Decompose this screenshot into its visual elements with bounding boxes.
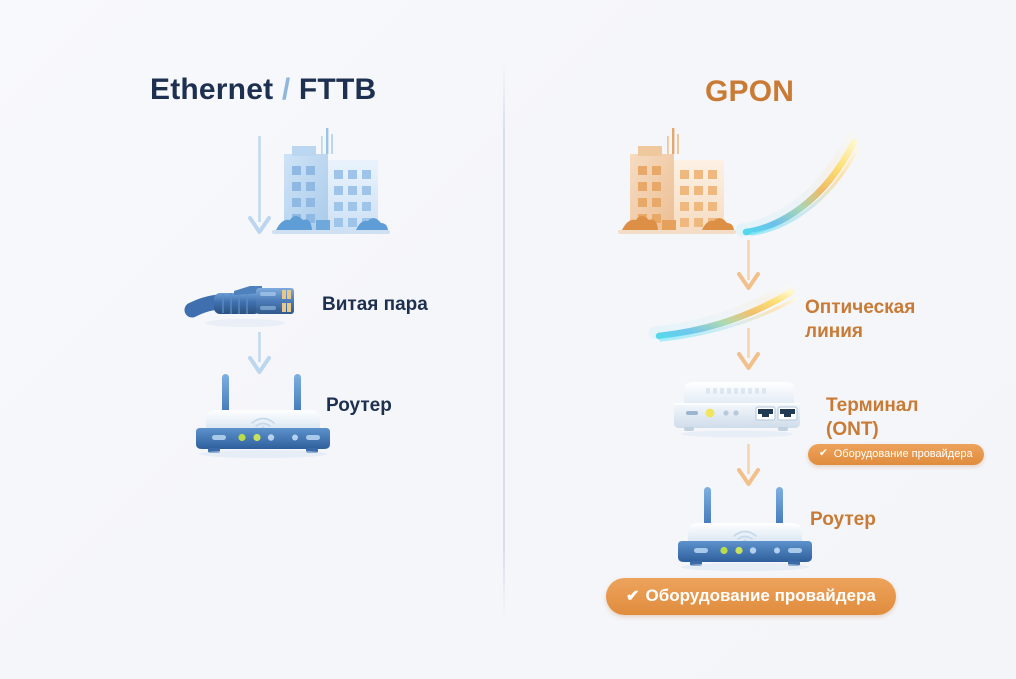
diagram-canvas: Ethernet / FTTB [0,0,1016,679]
label-ont-terminal: Терминал (ONT) [826,394,918,442]
arrow-down-left-2 [247,332,273,380]
label-twisted-pair: Витая пара [322,293,428,317]
ont-terminal-icon [672,378,802,438]
ethernet-cable-icon [190,278,310,330]
column-divider [503,64,505,616]
title-ethernet-text: Ethernet [150,73,282,106]
left-column-title: Ethernet / FTTB [150,73,376,107]
label-router-right: Роутер [810,508,876,532]
right-column-title: GPON [705,75,794,109]
fiber-optic-icon-2 [655,288,805,342]
title-fttb-text: FTTB [290,73,376,106]
router-icon-right [672,487,818,571]
provider-equipment-badge-router-label: Оборудование провайдера [646,586,876,606]
building-icon-right [618,126,736,242]
label-router-left: Роутер [326,394,392,418]
arrow-down-right-3 [736,444,762,492]
label-optical-line: Оптическая линия [805,296,915,344]
provider-equipment-badge-ont-label: Оборудование провайдера [834,448,973,460]
label-optical-line-row2: линия [805,320,915,344]
arrow-down-left-1 [247,136,273,242]
fiber-optic-icon-1 [742,136,874,236]
provider-equipment-badge-router[interactable]: ✔ Оборудование провайдера [606,578,896,615]
check-icon-2: ✔ [626,588,640,604]
label-ont-terminal-row1: Терминал [826,394,918,418]
check-icon-1: ✔ [819,449,828,459]
label-ont-terminal-row2: (ONT) [826,418,918,442]
label-optical-line-row1: Оптическая [805,296,915,320]
provider-equipment-badge-ont[interactable]: ✔ Оборудование провайдера [808,444,984,465]
arrow-down-right-2 [736,328,762,376]
router-icon-left [190,374,336,458]
building-icon-left [272,126,390,242]
